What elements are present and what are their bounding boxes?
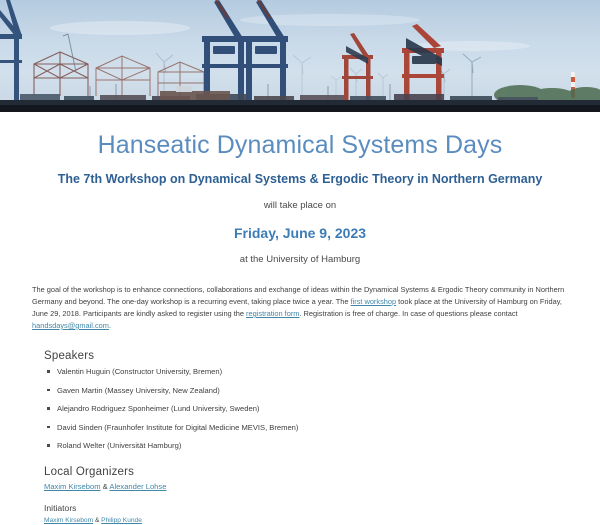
speakers-list: Valentin Huguin (Constructor University,… bbox=[44, 368, 556, 450]
intro-text-part4: . bbox=[109, 321, 111, 330]
speakers-heading: Speakers bbox=[44, 350, 556, 362]
page-content: Hanseatic Dynamical Systems Days The 7th… bbox=[0, 130, 600, 525]
organizer-link-maxim-kirsebom[interactable]: Maxim Kirsebom bbox=[44, 482, 101, 491]
will-take-place-line: will take place on bbox=[0, 200, 600, 211]
intro-section: The goal of the workshop is to enhance c… bbox=[0, 284, 600, 332]
organizer-link-alexander-lohse[interactable]: Alexander Lohse bbox=[109, 482, 166, 491]
initiator-link-philipp-kunde[interactable]: Philipp Kunde bbox=[101, 517, 142, 524]
list-item: Roland Welter (Universität Hamburg) bbox=[44, 442, 556, 450]
hero-bottom-band bbox=[0, 105, 600, 112]
initiator-link-maxim-kirsebom[interactable]: Maxim Kirsebom bbox=[44, 517, 93, 524]
event-venue: at the University of Hamburg bbox=[0, 254, 600, 265]
page-title: Hanseatic Dynamical Systems Days bbox=[0, 130, 600, 160]
contact-email-link[interactable]: handsdays@gmail.com bbox=[32, 321, 109, 330]
speakers-section: Speakers Valentin Huguin (Constructor Un… bbox=[0, 350, 600, 525]
list-item: Alejandro Rodriguez Sponheimer (Lund Uni… bbox=[44, 405, 556, 413]
intro-text-part3: . Registration is free of charge. In cas… bbox=[299, 309, 517, 318]
initiators-separator: & bbox=[93, 517, 101, 524]
harbour-photo-illustration bbox=[0, 0, 600, 112]
intro-paragraph: The goal of the workshop is to enhance c… bbox=[32, 284, 568, 332]
hero-banner bbox=[0, 0, 600, 112]
list-item: David Sinden (Fraunhofer Institute for D… bbox=[44, 424, 556, 432]
initiators-heading: Initiators bbox=[44, 503, 556, 513]
page-subtitle: The 7th Workshop on Dynamical Systems & … bbox=[0, 172, 600, 186]
first-workshop-link[interactable]: first workshop bbox=[351, 297, 397, 306]
initiators-line: Maxim Kirsebom & Philipp Kunde bbox=[44, 516, 556, 525]
local-organizers-heading: Local Organizers bbox=[44, 466, 556, 478]
organizers-separator: & bbox=[101, 482, 110, 491]
list-item: Gaven Martin (Massey University, New Zea… bbox=[44, 387, 556, 395]
list-item: Valentin Huguin (Constructor University,… bbox=[44, 368, 556, 376]
local-organizers-line: Maxim Kirsebom & Alexander Lohse bbox=[44, 481, 556, 492]
registration-form-link[interactable]: registration form bbox=[246, 309, 299, 318]
event-date: Friday, June 9, 2023 bbox=[0, 225, 600, 241]
